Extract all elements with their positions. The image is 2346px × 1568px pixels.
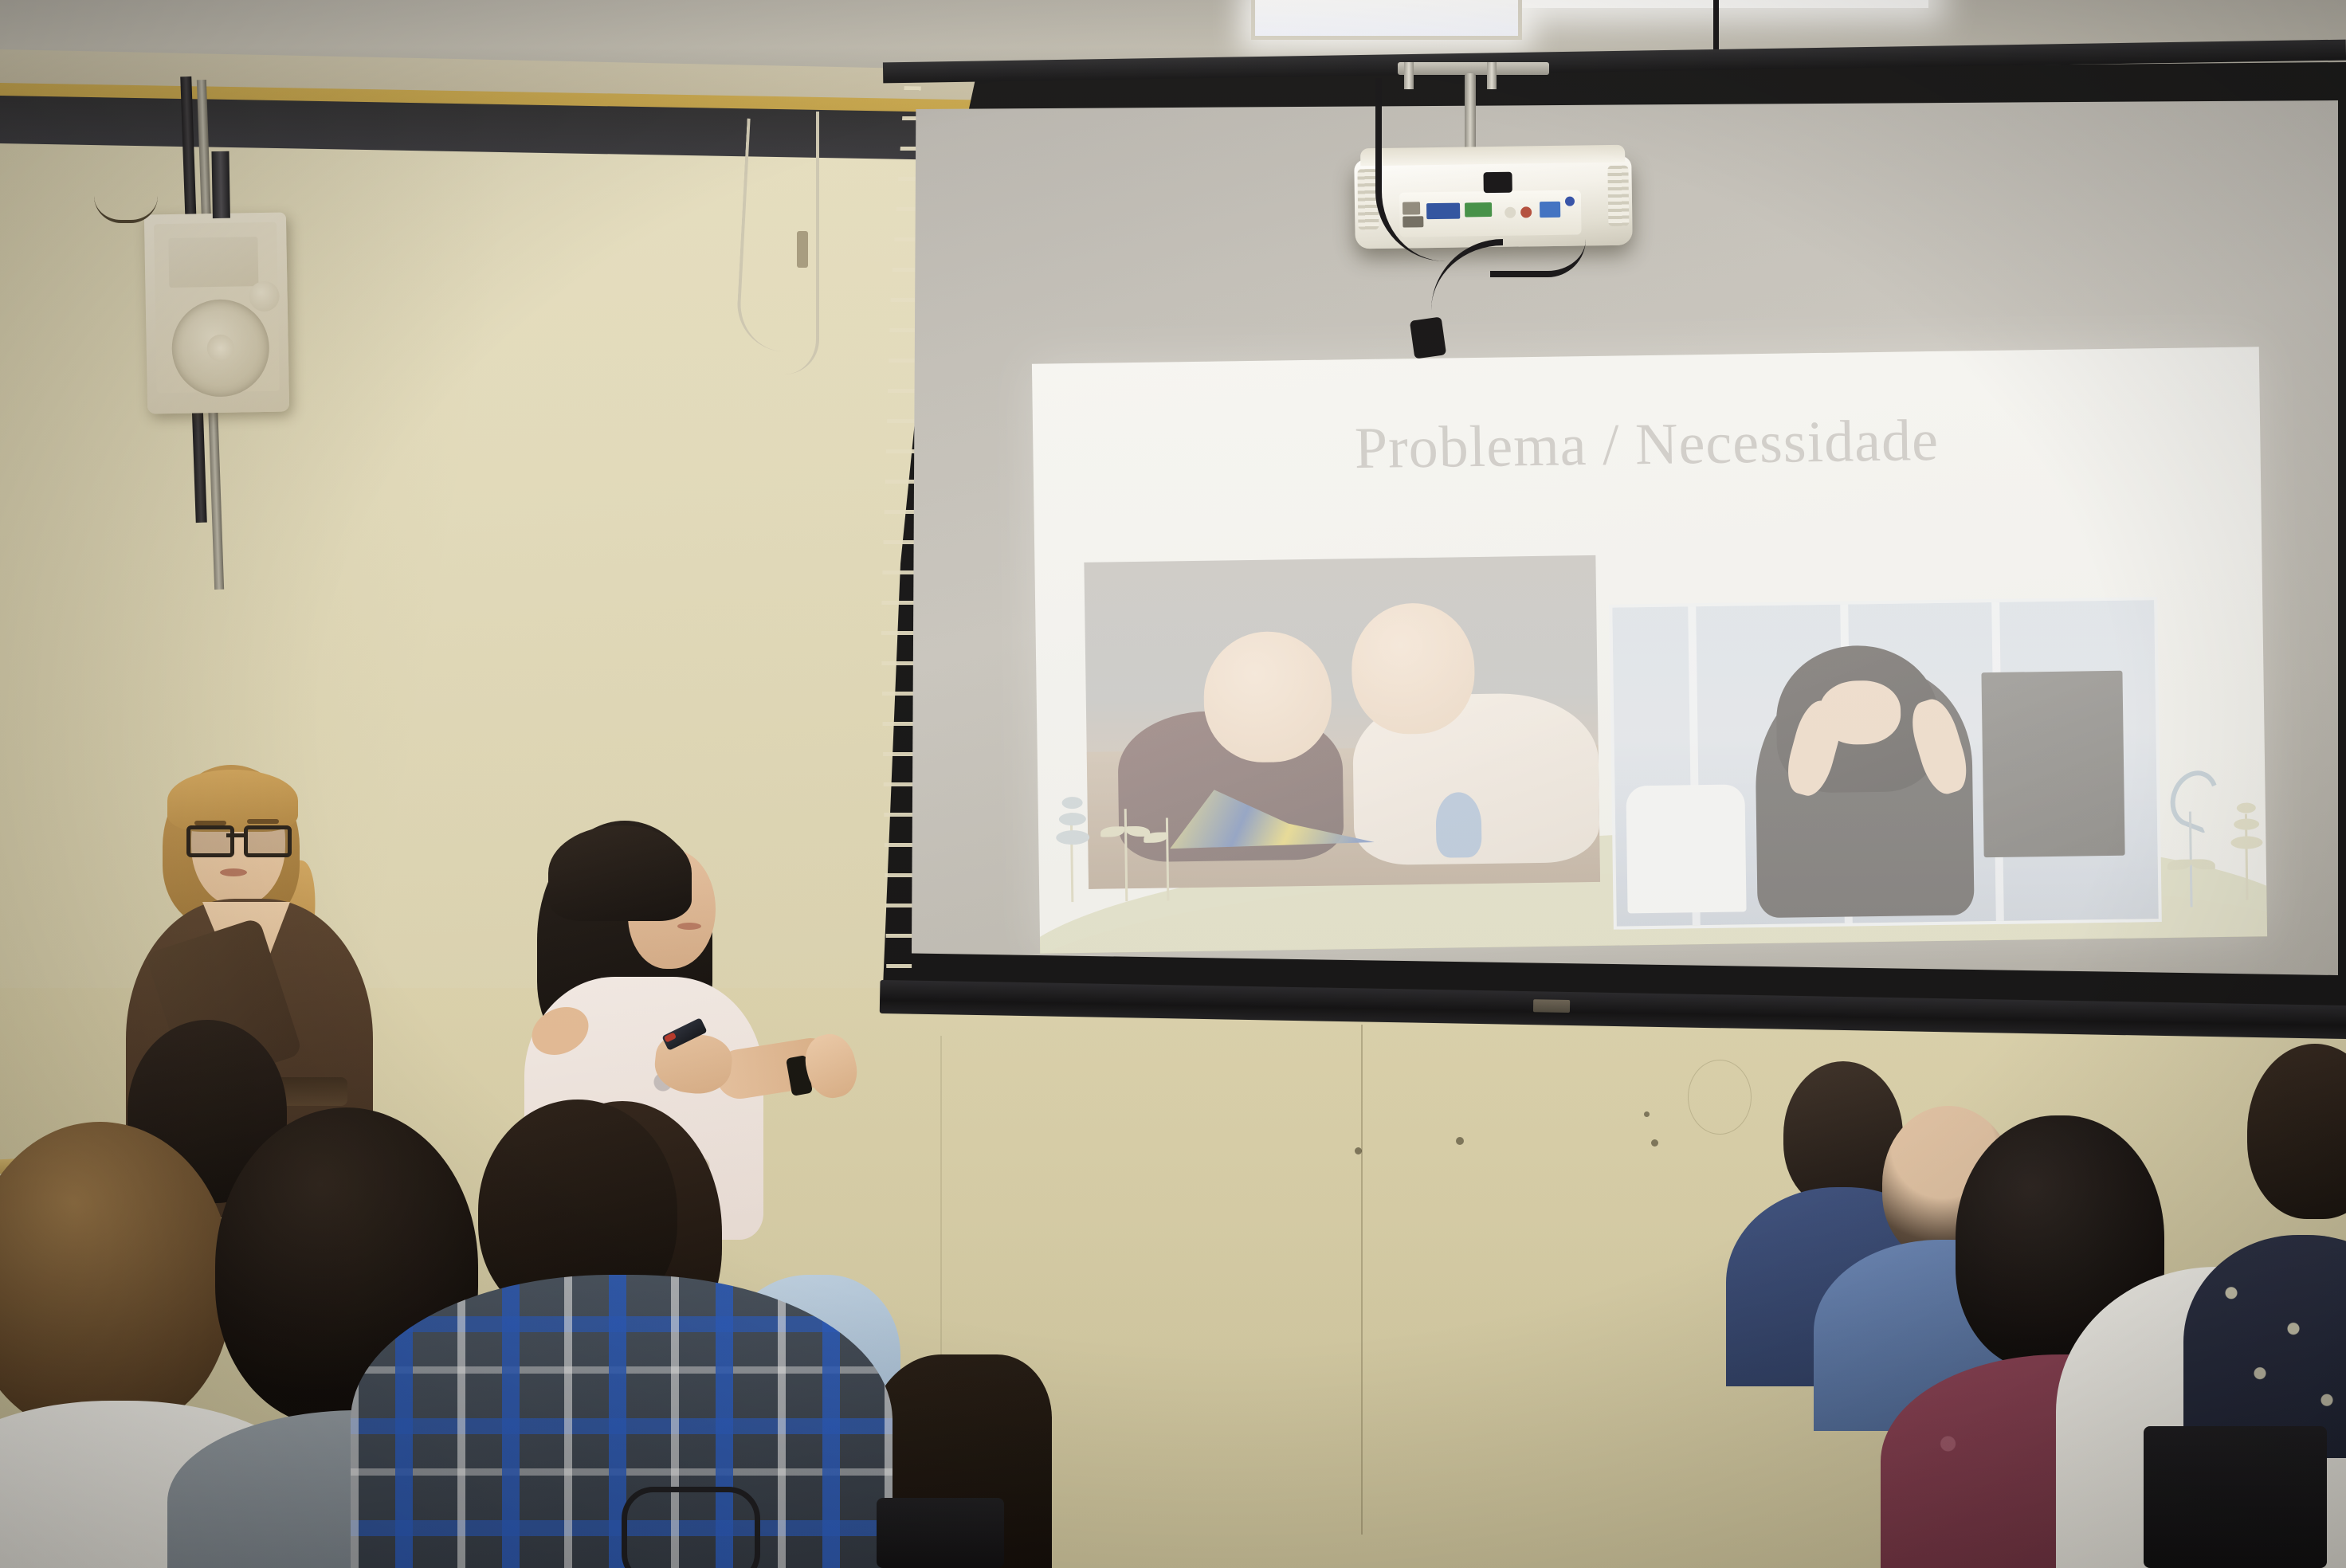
shoulders (2183, 1235, 2346, 1458)
mouth (677, 923, 701, 930)
audience-polka-dot-top (2199, 1115, 2346, 1450)
baby-right-head (1351, 602, 1475, 735)
wall-seam (1361, 1025, 1363, 1535)
lens-left (186, 825, 234, 857)
presentation-room-photo: Problema / Necessidade (0, 0, 2346, 1568)
cable-connector (1483, 172, 1512, 194)
slide-photo-stressed-woman (1609, 597, 2162, 930)
projector-vents-right (1607, 166, 1629, 226)
curl-icon (2163, 763, 2226, 833)
wall-mark (1355, 1147, 1362, 1154)
presenter-hair-front (548, 825, 692, 921)
speaker-bracket (211, 151, 229, 218)
wire-connector (797, 231, 808, 268)
computer-monitor (1982, 671, 2125, 857)
rgb-port (1540, 202, 1560, 218)
eyeglasses-icon (186, 825, 288, 849)
ceiling-window (1251, 0, 1522, 40)
office-chair (1626, 784, 1747, 913)
eyebrow (247, 819, 279, 824)
wall-mark (1651, 1139, 1658, 1147)
cable-plug (1410, 316, 1446, 359)
hdmi-port (1465, 202, 1492, 217)
baby-toy (1435, 792, 1482, 858)
chair-armrest (622, 1487, 760, 1568)
wall-speaker (144, 212, 289, 414)
head (0, 1122, 231, 1433)
wall-mark (1456, 1137, 1464, 1145)
chair (877, 1498, 1004, 1568)
projected-slide: Problema / Necessidade (1032, 347, 2267, 953)
projector-mount-hook (1487, 62, 1497, 89)
chair (2144, 1426, 2327, 1568)
wall-mark (1644, 1111, 1650, 1117)
mouth (220, 868, 247, 876)
audio-jack (1504, 207, 1516, 218)
glasses-bridge (226, 833, 244, 837)
wall-scuff-circle (1688, 1060, 1752, 1135)
slide-title: Problema / Necessidade (1033, 402, 2261, 487)
lens-right (244, 825, 292, 857)
baby-left-head (1202, 631, 1332, 763)
audio-jack (1520, 206, 1532, 218)
speaker-port (168, 237, 258, 288)
status-led (1565, 197, 1575, 206)
